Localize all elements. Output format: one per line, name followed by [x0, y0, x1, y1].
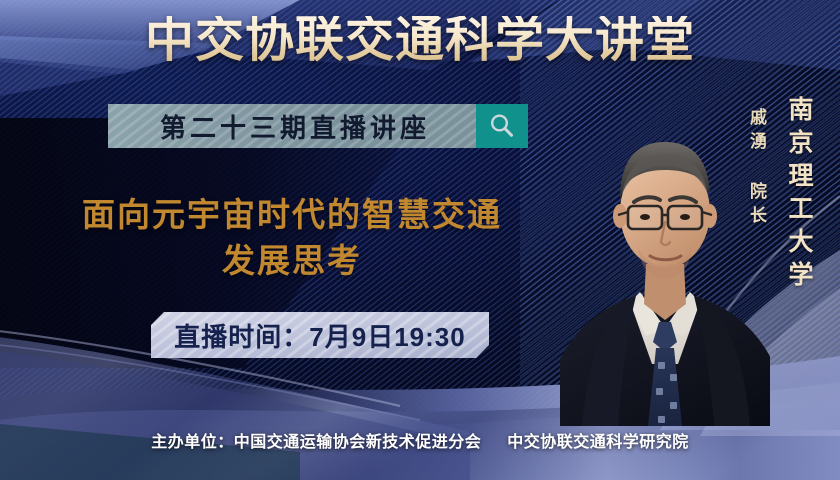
footer-organizers: 主办单位：中国交通运输协会新技术促进分会中交协联交通科学研究院 [0, 428, 840, 452]
page-title: 中交协联交通科学大讲堂 [0, 16, 840, 65]
footer-prefix: 主办单位： [151, 434, 234, 451]
footer-organizer-1: 中国交通运输协会新技术促进分会 [234, 434, 482, 451]
lecture-headline: 面向元宇宙时代的智慧交通 发展思考 [22, 192, 562, 283]
speaker-name-role: 戚湧 院长 [744, 108, 769, 230]
speaker-affiliation: 南京理工大学 [781, 96, 817, 294]
schedule-badge: 直播时间：7月9日19:30 [151, 312, 489, 358]
schedule-label: 直播时间：7月9日19:30 [174, 317, 465, 354]
episode-label: 第二十三期直播讲座 [154, 108, 430, 145]
portrait-photo [560, 96, 770, 426]
live-stream-poster: 中交协联交通科学大讲堂 第二十三期直播讲座 面向元宇宙时代的智慧交通 发展思考 … [0, 0, 840, 480]
footer-organizer-2: 中交协联交通科学研究院 [507, 434, 689, 451]
headline-line-2: 发展思考 [22, 238, 562, 284]
episode-banner-bar: 第二十三期直播讲座 [108, 104, 476, 148]
speaker-portrait [560, 96, 770, 426]
headline-line-1: 面向元宇宙时代的智慧交通 [82, 196, 502, 233]
episode-banner: 第二十三期直播讲座 [108, 104, 528, 148]
search-icon-block[interactable] [476, 104, 528, 148]
search-icon [487, 111, 517, 141]
